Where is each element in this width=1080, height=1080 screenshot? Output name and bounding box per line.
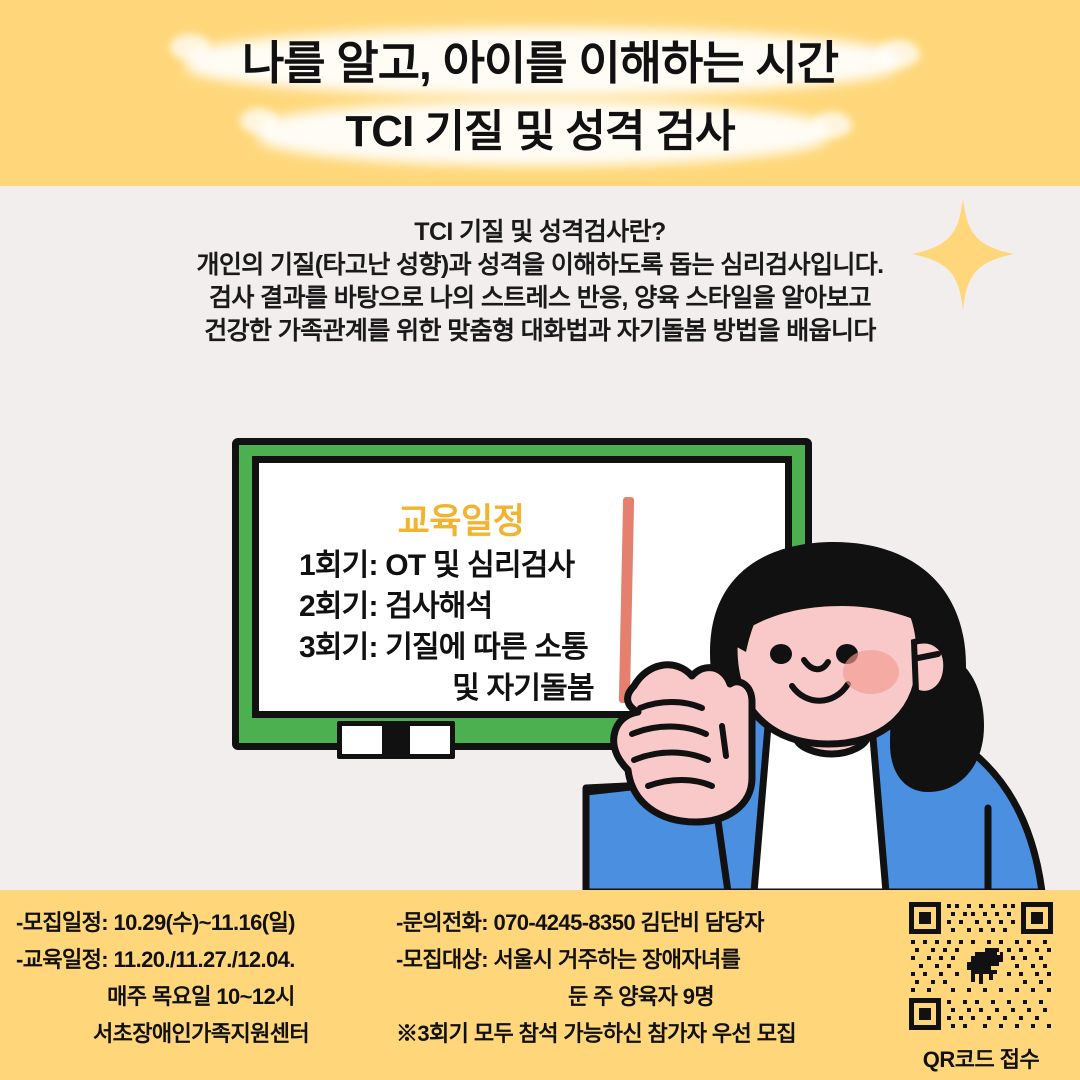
footer-line: -교육일정: 11.20./11.27./12.04.: [16, 941, 386, 978]
footer-line: -모집대상: 서울시 거주하는 장애자녀를: [396, 941, 886, 978]
footer-line: -문의전화: 070-4245-8350 김단비 담당자: [396, 904, 886, 941]
teacher-illustration: [556, 520, 1080, 892]
footer-contact-column: -문의전화: 070-4245-8350 김단비 담당자 -모집대상: 서울시 …: [396, 904, 886, 1052]
footer-line: ※3회기 모두 참석 가능하신 참가자 우선 모집: [396, 1015, 886, 1052]
footer-line: 둔 주 양육자 9명: [396, 978, 886, 1015]
footer-line: 매주 목요일 10~12시: [16, 978, 386, 1015]
marker-tray: [337, 721, 455, 759]
poster-title-line-2: TCI 기질 및 성격 검사: [0, 103, 1080, 161]
poster-root: 나를 알고, 아이를 이해하는 시간 TCI 기질 및 성격 검사 TCI 기질…: [0, 0, 1080, 1080]
poster-title-line-1: 나를 알고, 아이를 이해하는 시간: [0, 33, 1080, 93]
footer-line: 서초장애인가족지원센터: [16, 1015, 386, 1052]
qr-code[interactable]: [907, 900, 1055, 1040]
intro-line: 건강한 가족관계를 위한 맞춤형 대화법과 자기돌봄 방법을 배웁니다: [0, 315, 1080, 348]
footer-schedule-column: -모집일정: 10.29(수)~11.16(일) -교육일정: 11.20./1…: [16, 904, 386, 1052]
eraser-block: [410, 726, 450, 754]
eraser-block: [342, 726, 382, 754]
qr-code-label: QR코드 접수: [890, 1042, 1072, 1074]
header-band: 나를 알고, 아이를 이해하는 시간 TCI 기질 및 성격 검사: [0, 0, 1080, 186]
sparkle-icon: [912, 198, 1014, 310]
footer-line: -모집일정: 10.29(수)~11.16(일): [16, 904, 386, 941]
